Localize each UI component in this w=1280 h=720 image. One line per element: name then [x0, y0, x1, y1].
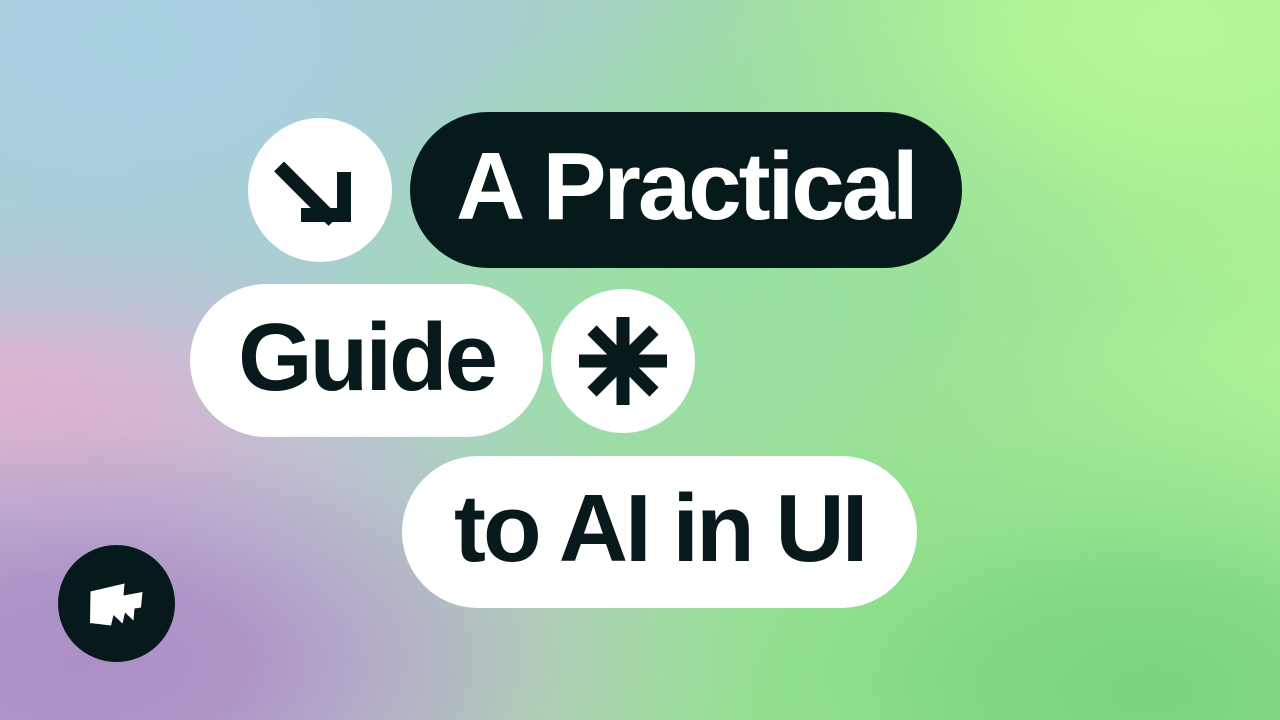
headline-pill-a-practical: A Practical: [410, 112, 962, 268]
arrow-down-right-icon: [248, 118, 392, 262]
headline-pill-to-ai-in-ui: to AI in UI: [402, 456, 917, 608]
headline-pill-label: Guide: [238, 310, 495, 406]
headline-pill-label: A Practical: [456, 139, 916, 235]
headline-pill-guide: Guide: [190, 284, 543, 437]
headline-block: A Practical Guide: [0, 0, 1280, 720]
headline-pill-label: to AI in UI: [454, 481, 865, 577]
logo-badge[interactable]: [58, 545, 175, 662]
asterisk-icon: [551, 289, 695, 433]
headline-row-3: to AI in UI: [402, 456, 917, 608]
headline-row-2: Guide: [190, 284, 695, 437]
headline-row-1: A Practical: [248, 112, 962, 268]
lightning-flag-logo-icon: [84, 571, 150, 637]
poster-canvas: A Practical Guide: [0, 0, 1280, 720]
